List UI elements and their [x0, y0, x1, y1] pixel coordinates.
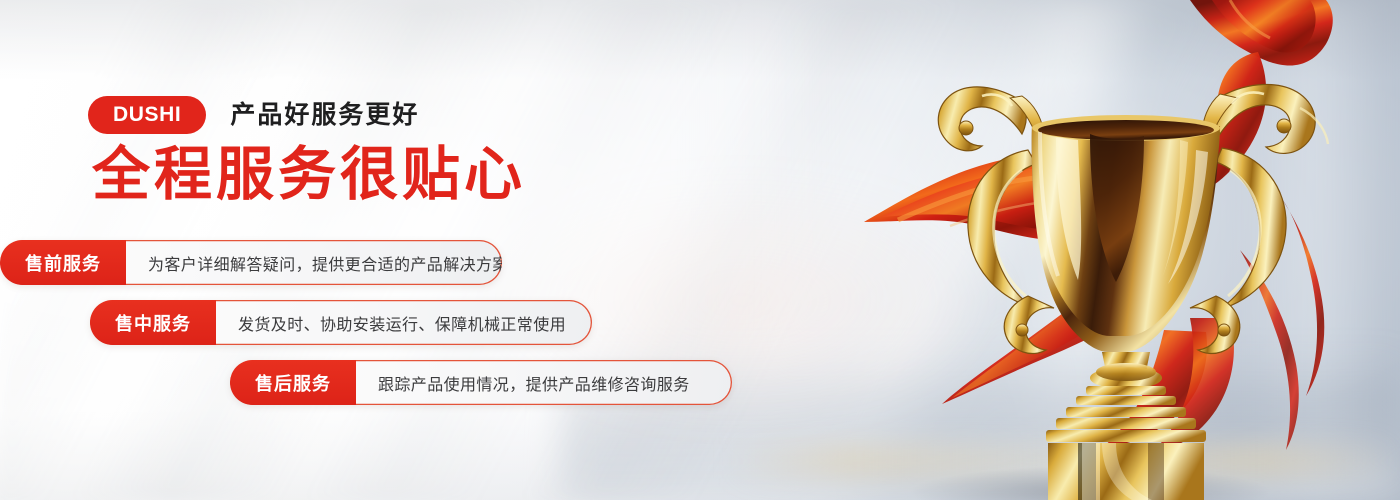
service-pill-label: 售后服务: [230, 360, 356, 405]
brand-badge: DUSHI: [88, 96, 206, 134]
service-pill-insale[interactable]: 售中服务 发货及时、协助安装运行、保障机械正常使用: [90, 300, 592, 345]
service-pill-list: 售前服务 为客户详细解答疑问，提供更合适的产品解决方案 售中服务 发货及时、协助…: [0, 240, 900, 405]
service-pill-label: 售中服务: [90, 300, 216, 345]
service-pill-aftersale[interactable]: 售后服务 跟踪产品使用情况，提供产品维修咨询服务: [230, 360, 732, 405]
service-pill-desc: 发货及时、协助安装运行、保障机械正常使用: [216, 300, 592, 345]
eyebrow-row: DUSHI 产品好服务更好: [88, 96, 419, 134]
banner-content: DUSHI 产品好服务更好 全程服务很贴心 售前服务 为客户详细解答疑问，提供更…: [0, 0, 900, 500]
service-pill-desc: 为客户详细解答疑问，提供更合适的产品解决方案: [126, 240, 502, 285]
promo-banner: DUSHI 产品好服务更好 全程服务很贴心 售前服务 为客户详细解答疑问，提供更…: [0, 0, 1400, 500]
service-pill-desc: 跟踪产品使用情况，提供产品维修咨询服务: [356, 360, 732, 405]
page-title: 全程服务很贴心: [92, 145, 526, 206]
eyebrow-text: 产品好服务更好: [230, 103, 419, 128]
service-pill-label: 售前服务: [0, 240, 126, 285]
service-pill-presale[interactable]: 售前服务 为客户详细解答疑问，提供更合适的产品解决方案: [0, 240, 502, 285]
